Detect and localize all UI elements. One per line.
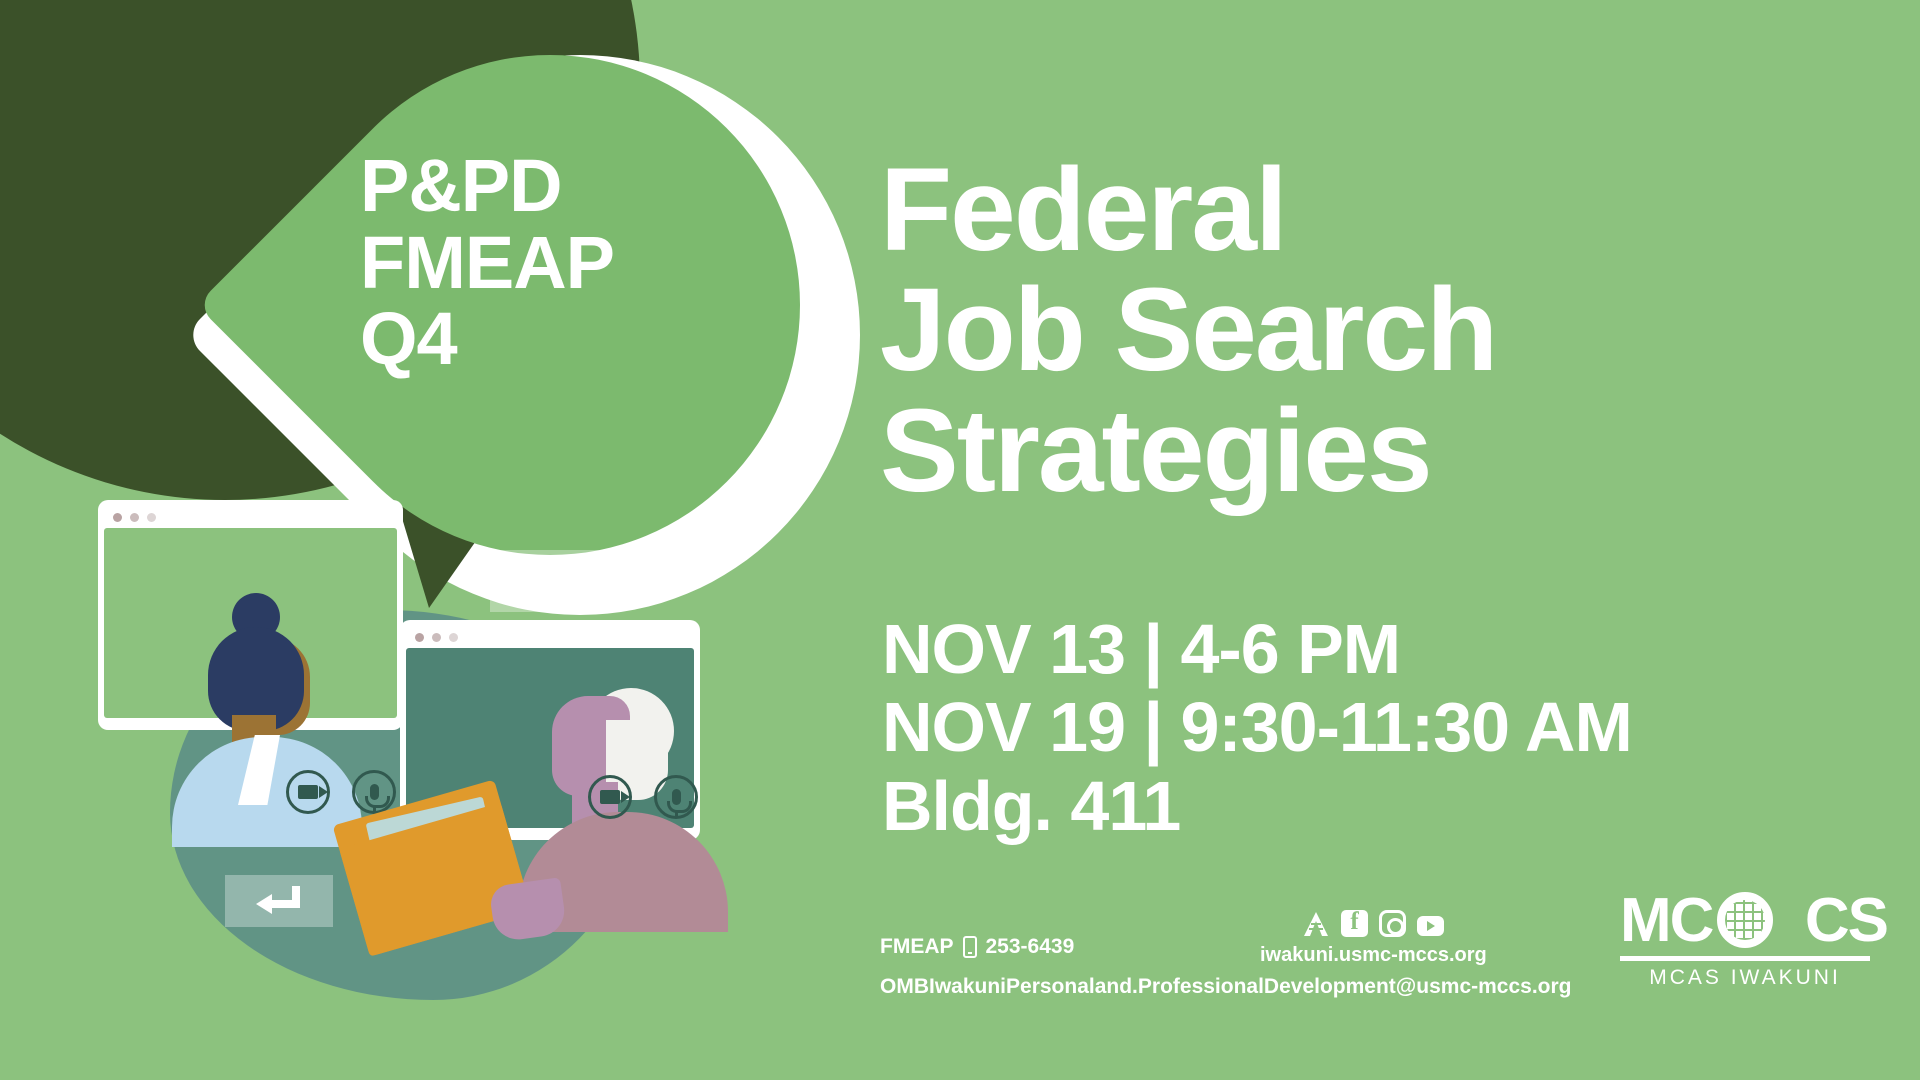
event-schedule: NOV 13 | 4-6 PM NOV 19 | 9:30-11:30 AM B… xyxy=(882,610,1902,845)
window-dot-green xyxy=(449,633,458,642)
mobile-phone-icon xyxy=(963,936,977,958)
video-conference-illustration xyxy=(80,575,740,1005)
hand xyxy=(488,877,567,942)
facebook-icon[interactable] xyxy=(1341,910,1368,937)
badge-line-2: FMEAP xyxy=(360,227,710,300)
program-badge: P&PD FMEAP Q4 xyxy=(360,150,710,380)
website-url[interactable]: iwakuni.usmc-mccs.org xyxy=(1260,944,1487,967)
window-dot-red xyxy=(415,633,424,642)
social-icons xyxy=(1260,910,1487,937)
schedule-line-2: NOV 19 | 9:30-11:30 AM xyxy=(882,688,1902,766)
card-line xyxy=(526,571,564,577)
logo-wordmark: MCOOCS xyxy=(1620,890,1870,952)
enter-return-key-icon[interactable] xyxy=(225,875,333,927)
participant-two-avatar xyxy=(410,670,740,960)
logo-subtitle: MCAS IWAKUNI xyxy=(1620,966,1870,990)
program-label: FMEAP xyxy=(880,935,954,959)
video-camera-icon[interactable] xyxy=(286,770,330,814)
card-line xyxy=(502,560,558,566)
badge-line-1: P&PD xyxy=(360,150,710,223)
window-titlebar xyxy=(104,506,397,528)
schedule-line-3: Bldg. 411 xyxy=(882,767,1902,845)
window-dot-yellow xyxy=(130,513,139,522)
badge-line-3: Q4 xyxy=(360,303,710,376)
poster-canvas: P&PD FMEAP Q4 xyxy=(0,0,1920,1080)
microphone-icon[interactable] xyxy=(654,775,698,819)
mic-glyph xyxy=(370,784,379,800)
app-a-icon[interactable] xyxy=(1302,911,1330,937)
phone-number[interactable]: 253-6439 xyxy=(986,935,1075,959)
logo-text-left: MC xyxy=(1620,886,1712,955)
window-dot-yellow xyxy=(432,633,441,642)
card-line xyxy=(524,582,602,588)
email-address[interactable]: OMBIwakuniPersonaland.ProfessionalDevelo… xyxy=(880,975,1572,999)
mccs-logo: MCOOCS MCAS IWAKUNI xyxy=(1620,890,1870,990)
headline-line-1: Federal xyxy=(880,150,1890,270)
schedule-line-1: NOV 13 | 4-6 PM xyxy=(882,610,1902,688)
social-block: iwakuni.usmc-mccs.org xyxy=(1260,910,1487,967)
camera-glyph xyxy=(600,790,620,804)
logo-divider xyxy=(1620,956,1870,961)
enter-arrow xyxy=(256,894,272,914)
window-titlebar xyxy=(406,626,694,648)
logo-text-right: CS xyxy=(1805,886,1887,955)
card-line xyxy=(522,593,558,599)
instagram-icon[interactable] xyxy=(1379,910,1406,937)
camera-glyph xyxy=(298,785,318,799)
youtube-icon[interactable] xyxy=(1417,916,1444,936)
eagle-globe-anchor-icon xyxy=(1714,889,1776,951)
window-dot-red xyxy=(113,513,122,522)
enter-glyph xyxy=(256,886,302,916)
page-title: Federal Job Search Strategies xyxy=(880,150,1890,511)
window-dot-green xyxy=(147,513,156,522)
video-camera-icon[interactable] xyxy=(588,775,632,819)
mic-glyph xyxy=(672,789,681,805)
microphone-icon[interactable] xyxy=(352,770,396,814)
headline-line-3: Strategies xyxy=(880,391,1890,511)
document-lines-card xyxy=(490,550,605,612)
headline-line-2: Job Search xyxy=(880,270,1890,390)
